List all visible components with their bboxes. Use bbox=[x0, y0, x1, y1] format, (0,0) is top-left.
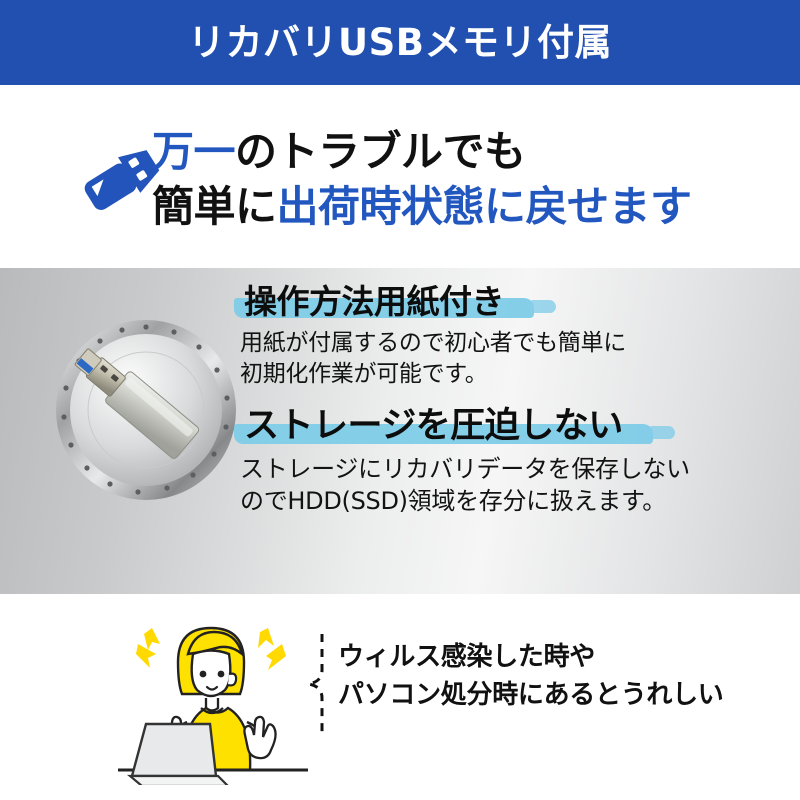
feature-heading: 操作方法用紙付き bbox=[240, 282, 508, 322]
feature-item: ストレージを圧迫しない ストレージにリカバリデータを保存しない のでHDD(SS… bbox=[240, 405, 785, 518]
headline-line2-black: 簡単に bbox=[152, 182, 277, 231]
headline-line2-blue: 出荷時状態に戻せます bbox=[277, 182, 692, 231]
happy-woman-with-laptop-illustration bbox=[108, 610, 328, 785]
bottom-section: ウィルス感染した時や パソコン処分時にあるとうれしい bbox=[0, 594, 800, 800]
headline-line1-black: のトラブルでも bbox=[235, 127, 526, 176]
features-section: 操作方法用紙付き 用紙が付属するので初心者でも簡単に 初期化作業が可能です。 ス… bbox=[0, 268, 800, 594]
feature-body: ストレージにリカバリデータを保存しない のでHDD(SSD)領域を存分に扱えます… bbox=[240, 454, 785, 518]
infographic-page: リカバリUSBメモリ付属 万一のトラブルでも 簡単に出荷時状態に戻せます bbox=[0, 0, 800, 800]
headline-line-2: 簡単に出荷時状態に戻せます bbox=[152, 180, 692, 235]
bottom-caption-line: ウィルス感染した時や bbox=[338, 639, 724, 677]
feature-list: 操作方法用紙付き 用紙が付属するので初心者でも簡単に 初期化作業が可能です。 ス… bbox=[240, 282, 785, 534]
feature-item: 操作方法用紙付き 用紙が付属するので初心者でも簡単に 初期化作業が可能です。 bbox=[240, 282, 785, 389]
feature-body: 用紙が付属するので初心者でも簡単に 初期化作業が可能です。 bbox=[240, 328, 785, 389]
header-banner: リカバリUSBメモリ付属 bbox=[0, 0, 800, 85]
bottom-caption: ウィルス感染した時や パソコン処分時にあるとうれしい bbox=[338, 639, 724, 715]
headline-line1-blue: 万一 bbox=[152, 127, 235, 176]
bottom-caption-line: パソコン処分時にあるとうれしい bbox=[338, 677, 724, 715]
usb-product-photo bbox=[48, 312, 244, 508]
feature-heading: ストレージを圧迫しない bbox=[240, 405, 627, 448]
feature-body-line: 初期化作業が可能です。 bbox=[240, 359, 785, 390]
feature-body-line: ストレージにリカバリデータを保存しない bbox=[240, 454, 785, 486]
headline-line-1: 万一のトラブルでも bbox=[152, 125, 692, 180]
curly-brace-dashed-icon bbox=[296, 632, 342, 736]
headline-section: 万一のトラブルでも 簡単に出荷時状態に戻せます bbox=[0, 85, 800, 268]
feature-heading-text: ストレージを圧迫しない bbox=[244, 406, 623, 446]
feature-body-line: 用紙が付属するので初心者でも簡単に bbox=[240, 328, 785, 359]
feature-body-line: のでHDD(SSD)領域を存分に扱えます。 bbox=[240, 486, 785, 518]
feature-heading-text: 操作方法用紙付き bbox=[244, 282, 504, 321]
banner-title: リカバリUSBメモリ付属 bbox=[188, 24, 612, 61]
headline-text: 万一のトラブルでも 簡単に出荷時状態に戻せます bbox=[152, 125, 692, 234]
